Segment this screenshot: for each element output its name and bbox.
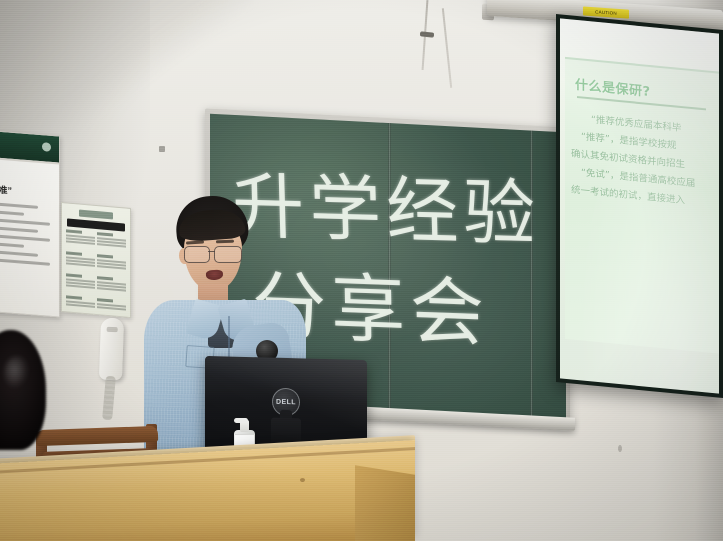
schedule-cell bbox=[66, 251, 95, 274]
schedule-cell bbox=[97, 232, 126, 255]
poster-text-line bbox=[0, 249, 38, 257]
schedule-cell bbox=[66, 229, 95, 252]
wall-blemish bbox=[618, 445, 622, 452]
wall-socket bbox=[159, 146, 165, 152]
poster-header: XX大学 bbox=[0, 130, 59, 165]
schedule-cell bbox=[97, 254, 126, 277]
dell-logo-label: DELL bbox=[276, 398, 296, 406]
classroom-photo-scene: CAUTION XX大学 学 “十不准” bbox=[0, 0, 723, 541]
eyeglasses bbox=[184, 246, 246, 262]
lens-right bbox=[214, 246, 242, 263]
poster-body: 学 “十不准” bbox=[0, 158, 59, 278]
schedule-cell bbox=[97, 276, 126, 299]
silhouette-highlight bbox=[4, 356, 30, 390]
poster-text-line bbox=[0, 217, 50, 226]
sanitizer-nozzle-icon bbox=[234, 418, 248, 423]
schedule-cell bbox=[66, 273, 95, 296]
projection-surface: 什么是保研? “推荐优秀应届本科毕 “推荐”，是指学校按规 确认其免初试资格并向… bbox=[560, 18, 719, 393]
school-logo-icon bbox=[79, 210, 113, 220]
wall-poster-rules: XX大学 学 “十不准” bbox=[0, 128, 60, 317]
poster-text-line bbox=[0, 257, 50, 266]
wall-poster-schedule bbox=[61, 202, 131, 318]
lectern-side-panel bbox=[355, 465, 415, 541]
poster-text-line bbox=[0, 201, 38, 209]
poster-text-line bbox=[0, 225, 38, 233]
poster-text-line bbox=[0, 241, 24, 248]
schedule-cell bbox=[97, 298, 126, 318]
wall-telephone[interactable] bbox=[99, 318, 124, 381]
schedule-grid bbox=[62, 229, 130, 318]
chair-top-rail bbox=[36, 426, 158, 446]
eyebrow-right bbox=[216, 240, 234, 244]
poster-text-line bbox=[0, 209, 24, 216]
poster-text-line bbox=[0, 233, 50, 242]
lectern-wood-knot bbox=[300, 478, 305, 482]
lens-left bbox=[184, 246, 210, 263]
presentation-slide: 什么是保研? “推荐优秀应届本科毕 “推荐”，是指学校按规 确认其免初试资格并向… bbox=[565, 57, 719, 356]
university-emblem-icon bbox=[42, 142, 51, 152]
projection-screen: 什么是保研? “推荐优秀应届本科毕 “推荐”，是指学校按规 确认其免初试资格并向… bbox=[556, 14, 723, 398]
